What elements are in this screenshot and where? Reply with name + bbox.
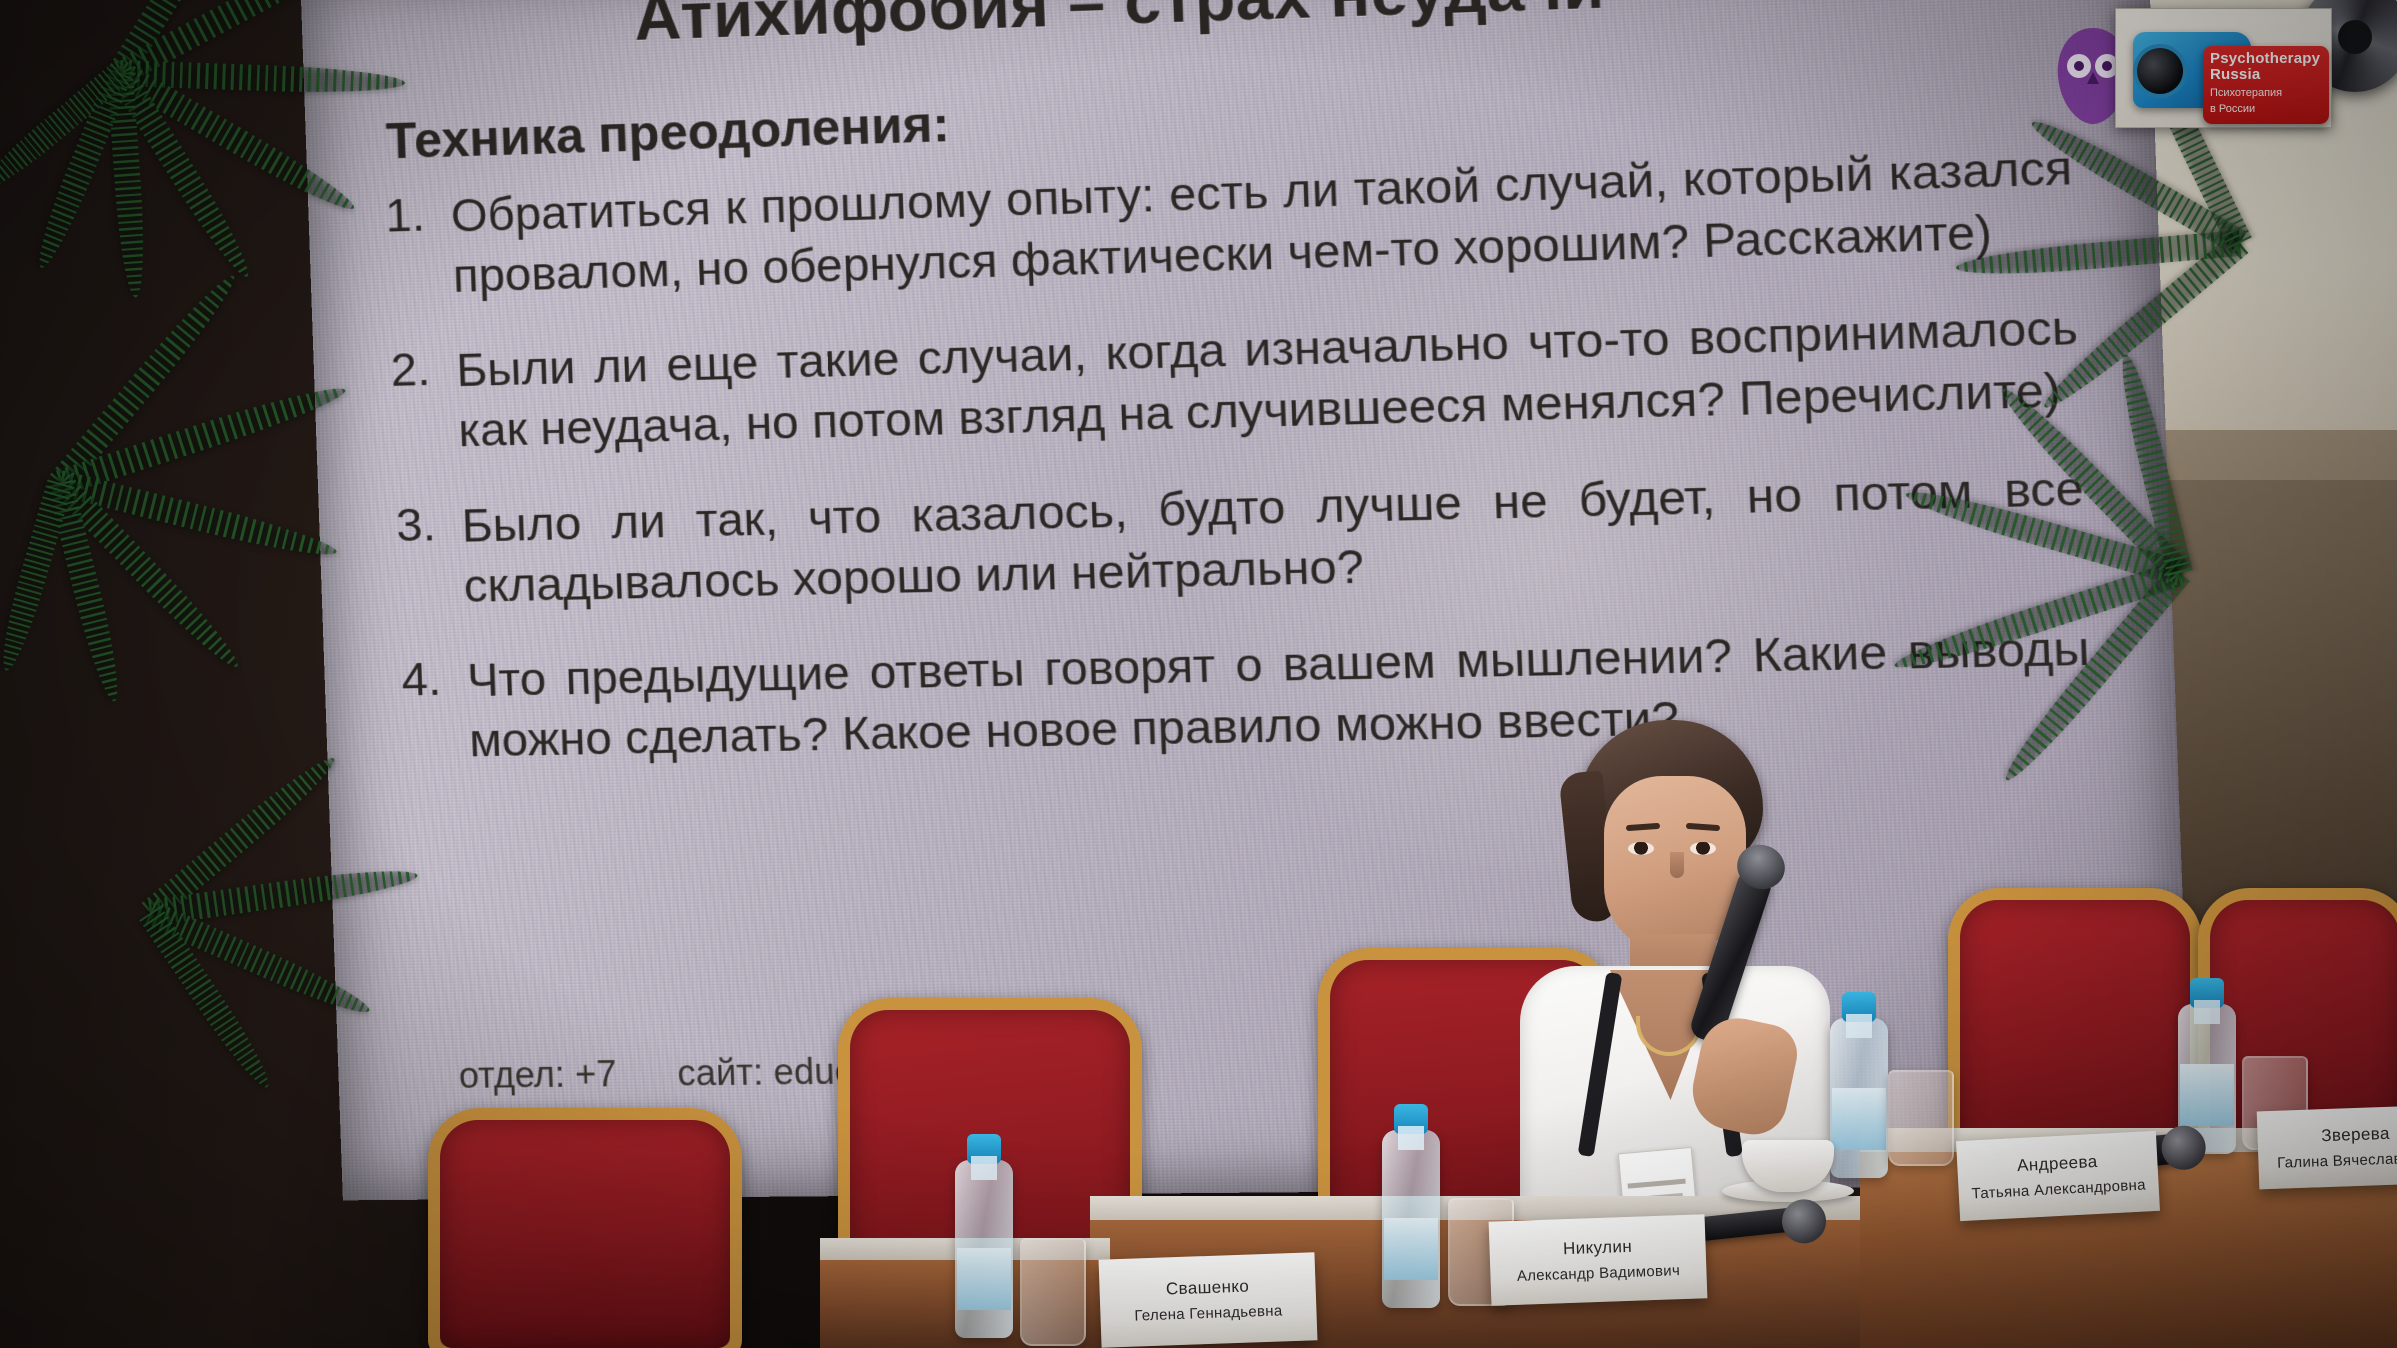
name-placard: Никулин Александр Вадимович xyxy=(1489,1214,1708,1305)
name-placard: Андреева Татьяна Александровна xyxy=(1956,1131,2160,1221)
list-item-text: Обратиться к прошлому опыту: есть ли так… xyxy=(450,137,2076,307)
water-bottle xyxy=(955,1160,1013,1338)
placard-last-name: Зверева xyxy=(2321,1124,2390,1146)
bottle-label xyxy=(957,1248,1011,1310)
logo-title-ru-line2: в России xyxy=(2210,103,2322,115)
drinking-glass xyxy=(1020,1238,1086,1346)
list-item-number: 1. xyxy=(370,186,428,308)
speaker-nose xyxy=(1670,852,1684,878)
placard-first-name: Татьяна Александровна xyxy=(1971,1176,2146,1202)
drinking-glass xyxy=(1888,1070,1954,1166)
bottle-label xyxy=(1832,1088,1886,1150)
conference-photo: Атихифобия – страх неудачи Техника преод… xyxy=(0,0,2397,1348)
name-placard: Зверева Галина Вячеславовна xyxy=(2257,1105,2397,1190)
list-item-text: Было ли так, что казалось, будто лучше н… xyxy=(461,457,2087,616)
placard-first-name: Гелена Геннадьевна xyxy=(1134,1302,1283,1324)
list-item: 3. Было ли так, что казалось, будто лучш… xyxy=(380,457,2087,618)
logo-title-ru-line1: Психотерапия xyxy=(2210,87,2322,99)
slide-subtitle: Техника преодоления: xyxy=(385,94,950,170)
placard-last-name: Никулин xyxy=(1563,1237,1633,1259)
logo-title-en-line2: Russia xyxy=(2210,67,2322,83)
list-item-text: Были ли еще такие случаи, когда изначаль… xyxy=(455,297,2081,461)
logo-badge: Psychotherapy Russia Психотерапия в Росс… xyxy=(2203,46,2329,124)
water-bottle xyxy=(1382,1130,1440,1308)
slide-list: 1. Обратиться к прошлому опыту: есть ли … xyxy=(370,137,2094,807)
list-item-number: 2. xyxy=(375,341,433,463)
placard-last-name: Свашенко xyxy=(1166,1277,1250,1300)
placard-last-name: Андреева xyxy=(2017,1152,2098,1176)
name-placard: Свашенко Гелена Геннадьевна xyxy=(1099,1252,1318,1347)
list-item: 2. Были ли еще такие случаи, когда изнач… xyxy=(375,297,2081,463)
list-item: 4. Что предыдущие ответы говорят о вашем… xyxy=(386,617,2093,772)
list-item-text: Что предыдущие ответы говорят о вашем мы… xyxy=(466,617,2093,771)
list-item-number: 3. xyxy=(380,496,438,618)
projection-screen: Атихифобия – страх неудачи Техника преод… xyxy=(300,0,2193,1200)
placard-first-name: Галина Вячеславовна xyxy=(2277,1149,2397,1172)
slide-footer-phone: отдел: +7 xyxy=(458,1053,617,1097)
list-item-number: 4. xyxy=(386,651,444,773)
bottle-label xyxy=(1384,1218,1438,1280)
placard-first-name: Александр Вадимович xyxy=(1517,1262,1681,1285)
logo-title-en-line1: Psychotherapy xyxy=(2210,51,2322,67)
chair xyxy=(440,1120,730,1348)
water-bottle xyxy=(1830,1018,1888,1178)
slide-title: Атихифобия – страх неудачи xyxy=(511,0,1733,59)
bottle-label xyxy=(2180,1064,2234,1126)
presentation-slide: Атихифобия – страх неудачи Техника преод… xyxy=(300,0,2193,1200)
